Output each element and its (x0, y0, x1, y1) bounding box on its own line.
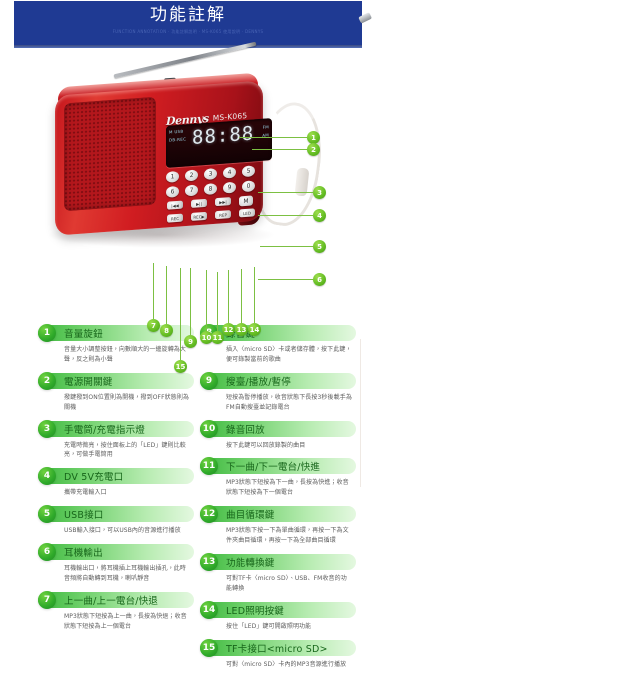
legend-item-3: 3手電筒/充電指示燈充電時微亮，按住面板上的「LED」鍵則比較亮，可做手電筒用 (38, 421, 198, 461)
header-inner: 功能註解 FUNCTION ANNOTATION ‧ 功能註解說明 ‧ MS-K… (14, 11, 362, 35)
legend-item-10: 10錄音回放按下此鍵可以回放錄製的曲目 (200, 421, 360, 451)
callout-leader-line-13 (241, 269, 242, 323)
legend-badge-13: 13 (200, 553, 218, 571)
callout-leader-line-11 (217, 272, 218, 331)
legend-badge-6: 6 (38, 543, 56, 561)
keypad-button-: ▶|| (191, 199, 207, 208)
legend-pill-11: 11下一曲/下一電台/快進 (200, 458, 356, 474)
legend-badge-10: 10 (200, 420, 218, 438)
callout-leader-line-3 (258, 192, 313, 193)
legend-pill-14: 14LED照明按鍵 (200, 602, 356, 618)
header-shadow-strip (14, 45, 362, 48)
legend-desc-14: 按住「LED」鍵可開啟照明功能 (226, 622, 352, 632)
legend-badge-11: 11 (200, 457, 218, 475)
legend-title-6: 耳機輸出 (64, 545, 103, 559)
keypad-button-8: 8 (204, 183, 217, 195)
header-subtitle: FUNCTION ANNOTATION ‧ 功能註解說明 ‧ MS-K065 使… (14, 29, 362, 35)
legend-title-9: 搜臺/播放/暫停 (226, 374, 291, 388)
legend-title-3: 手電筒/充電指示燈 (64, 422, 145, 436)
legend-pill-3: 3手電筒/充電指示燈 (38, 421, 194, 437)
callout-leader-line-12 (228, 270, 229, 323)
legend-item-2: 2電源開關鍵撥鍵撥到ON位置則為開機，撥到OFF狀態則為關機 (38, 373, 198, 413)
callout-leader-line-10 (206, 270, 207, 331)
callout-marker-6: 6 (313, 273, 326, 286)
callout-leader-line-5 (260, 246, 313, 247)
callout-marker-14: 14 (248, 323, 261, 336)
legend-pill-7: 7上一曲/上一電台/快退 (38, 592, 194, 608)
legend-desc-7: MP3狀態下短按為上一曲，長按為快退；收音狀態下短按為上一個電台 (64, 612, 190, 632)
callout-leader-line-14 (254, 267, 255, 323)
callout-marker-8: 8 (160, 324, 173, 337)
legend-title-2: 電源開關鍵 (64, 374, 113, 388)
keypad-button-REC: REC (167, 214, 183, 223)
legend-title-11: 下一曲/下一電台/快進 (226, 459, 320, 473)
legend-title-12: 曲目循環鍵 (226, 507, 275, 521)
page-root: 功能註解 FUNCTION ANNOTATION ‧ 功能註解說明 ‧ MS-K… (0, 0, 640, 640)
legend-item-4: 4DV 5V充電口攜帶充電輸入口 (38, 468, 198, 498)
keypad-button-: ▶▶| (215, 197, 231, 206)
legend-item-1: 1音量旋鈕音量大小調整按鈕，向數順大的一邊旋轉為大聲，反之則為小聲 (38, 325, 198, 365)
lcd-flag-rec: DB-REC (169, 136, 186, 142)
keypad: 1234567890|◀◀▶||▶▶|MRECREC▶REPLED (166, 164, 270, 228)
callout-leader-line-4 (258, 215, 313, 216)
legend-section: 1音量旋鈕音量大小調整按鈕，向數順大的一邊旋轉為大聲，反之則為小聲2電源開關鍵撥… (0, 325, 372, 640)
legend-item-5: 5USB接口USB輸入接口，可以USB內的音源進行播放 (38, 506, 198, 536)
keypad-button-REC: REC▶ (191, 212, 207, 221)
callout-marker-7: 7 (147, 319, 160, 332)
legend-item-15: 15TF卡接口<micro SD>可對〈micro SD〉卡內的MP3音源進行播… (200, 640, 360, 670)
keypad-button-7: 7 (185, 184, 198, 196)
keypad-button-REP: REP (215, 210, 231, 219)
keypad-button-M: M (239, 195, 253, 206)
legend-desc-9: 短按為暫停播放，收音狀態下長按3秒後載手為FM自動搜臺並記錄電台 (226, 393, 352, 413)
legend-desc-4: 攜帶充電輸入口 (64, 488, 190, 498)
legend-item-13: 13功能轉換鍵可對TF卡〈micro SD〉、USB、FM收音的功能轉換 (200, 554, 360, 594)
callout-marker-3: 3 (313, 186, 326, 199)
keypad-button-3: 3 (204, 168, 217, 180)
callout-leader-line-1 (239, 137, 307, 138)
keypad-button-5: 5 (242, 165, 255, 177)
callout-leader-line-9 (190, 268, 191, 335)
callout-marker-4: 4 (313, 209, 326, 222)
callout-marker-15: 15 (174, 360, 187, 373)
legend-pill-10: 10錄音回放 (200, 421, 356, 437)
legend-item-7: 7上一曲/上一電台/快退MP3狀態下短按為上一曲，長按為快退；收音狀態下短按為上… (38, 592, 198, 632)
legend-column-left: 1音量旋鈕音量大小調整按鈕，向數順大的一邊旋轉為大聲，反之則為小聲2電源開關鍵撥… (38, 325, 198, 640)
legend-title-1: 音量旋鈕 (64, 326, 103, 340)
legend-item-6: 6耳機輸出耳機輸出口，將耳機插上耳機輸出插孔，此時音頻將自動轉到耳機，喇叭靜音 (38, 544, 198, 584)
speaker-grille (64, 97, 156, 212)
legend-item-11: 11下一曲/下一電台/快進MP3狀態下短按為下一曲，長按為快進；收音狀態下短按為… (200, 458, 360, 498)
lcd-display: M USB DB-REC 88:88 FM AM (166, 118, 272, 168)
lcd-flags-right: FM AM (262, 124, 269, 137)
keypad-button-2: 2 (185, 169, 198, 181)
callout-leader-line-2 (252, 149, 307, 150)
callout-marker-5: 5 (313, 240, 326, 253)
legend-pill-4: 4DV 5V充電口 (38, 468, 194, 484)
callout-marker-13: 13 (235, 323, 248, 336)
legend-pill-2: 2電源開關鍵 (38, 373, 194, 389)
legend-pill-5: 5USB接口 (38, 506, 194, 522)
legend-title-4: DV 5V充電口 (64, 469, 123, 483)
keypad-button-9: 9 (223, 182, 236, 194)
legend-badge-9: 9 (200, 372, 218, 390)
legend-desc-10: 按下此鍵可以回放錄製的曲目 (226, 441, 352, 451)
column-divider (360, 339, 361, 487)
keypad-button-4: 4 (223, 167, 236, 179)
callout-marker-9: 9 (184, 335, 197, 348)
legend-badge-7: 7 (38, 591, 56, 609)
callout-leader-line-6 (258, 279, 313, 280)
legend-pill-13: 13功能轉換鍵 (200, 554, 356, 570)
page-title: 功能註解 (14, 7, 362, 24)
keypad-button-6: 6 (166, 186, 179, 198)
legend-badge-14: 14 (200, 601, 218, 619)
product-photo: Dennys MS-K065 M USB DB-REC 88:88 FM AM … (0, 50, 372, 322)
keypad-button-: |◀◀ (167, 201, 183, 210)
legend-pill-12: 12曲目循環鍵 (200, 506, 356, 522)
legend-item-14: 14LED照明按鍵按住「LED」鍵可開啟照明功能 (200, 602, 360, 632)
legend-title-5: USB接口 (64, 507, 104, 521)
legend-badge-3: 3 (38, 420, 56, 438)
legend-desc-3: 充電時微亮，按住面板上的「LED」鍵則比較亮，可做手電筒用 (64, 441, 190, 461)
legend-badge-5: 5 (38, 505, 56, 523)
keypad-button-1: 1 (166, 171, 179, 183)
legend-desc-11: MP3狀態下短按為下一曲，長按為快進；收音狀態下短按為下一個電台 (226, 478, 352, 498)
legend-desc-1: 音量大小調整按鈕，向數順大的一邊旋轉為大聲，反之則為小聲 (64, 345, 190, 365)
keypad-button-LED: LED (239, 208, 255, 217)
keypad-button-0: 0 (242, 180, 255, 192)
legend-pill-15: 15TF卡接口<micro SD> (200, 640, 356, 656)
legend-item-12: 12曲目循環鍵MP3狀態下按一下為單曲循環，再按一下為文件夾曲目循環，再按一下為… (200, 506, 360, 546)
legend-desc-12: MP3狀態下按一下為單曲循環，再按一下為文件夾曲目循環，再按一下為全部曲目循環 (226, 526, 352, 546)
legend-title-14: LED照明按鍵 (226, 603, 284, 617)
legend-pill-9: 9搜臺/播放/暫停 (200, 373, 356, 389)
callout-leader-line-8 (166, 266, 167, 324)
legend-column-right: 8錄音鍵插入〈micro SD〉卡或者儲存體，按下此鍵，便可錄製當前的歌曲9搜臺… (200, 325, 360, 678)
legend-pill-6: 6耳機輸出 (38, 544, 194, 560)
legend-badge-1: 1 (38, 324, 56, 342)
lcd-flag-fm: FM (263, 124, 269, 129)
legend-badge-2: 2 (38, 372, 56, 390)
legend-badge-12: 12 (200, 505, 218, 523)
legend-desc-5: USB輸入接口，可以USB內的音源進行播放 (64, 526, 190, 536)
callout-marker-2: 2 (307, 143, 320, 156)
page-header-banner: 功能註解 FUNCTION ANNOTATION ‧ 功能註解說明 ‧ MS-K… (14, 1, 362, 45)
callout-leader-line-7 (153, 263, 154, 319)
callout-marker-12: 12 (222, 323, 235, 336)
legend-title-13: 功能轉換鍵 (226, 555, 275, 569)
lcd-flags-left: M USB DB-REC (169, 128, 186, 142)
callout-leader-line-15 (180, 268, 181, 360)
legend-item-9: 9搜臺/播放/暫停短按為暫停播放，收音狀態下長按3秒後載手為FM自動搜臺並記錄電… (200, 373, 360, 413)
legend-title-7: 上一曲/上一電台/快退 (64, 593, 158, 607)
legend-desc-15: 可對〈micro SD〉卡內的MP3音源進行播放 (226, 660, 352, 670)
legend-desc-13: 可對TF卡〈micro SD〉、USB、FM收音的功能轉換 (226, 574, 352, 594)
lcd-flag-usb: M USB (169, 128, 186, 134)
legend-desc-6: 耳機輸出口，將耳機插上耳機輸出插孔，此時音頻將自動轉到耳機，喇叭靜音 (64, 564, 190, 584)
legend-title-15: TF卡接口<micro SD> (226, 641, 328, 655)
legend-desc-2: 撥鍵撥到ON位置則為開機，撥到OFF狀態則為關機 (64, 393, 190, 413)
legend-badge-4: 4 (38, 467, 56, 485)
legend-title-10: 錄音回放 (226, 422, 265, 436)
legend-badge-15: 15 (200, 639, 218, 657)
legend-desc-8: 插入〈micro SD〉卡或者儲存體，按下此鍵，便可錄製當前的歌曲 (226, 345, 352, 365)
